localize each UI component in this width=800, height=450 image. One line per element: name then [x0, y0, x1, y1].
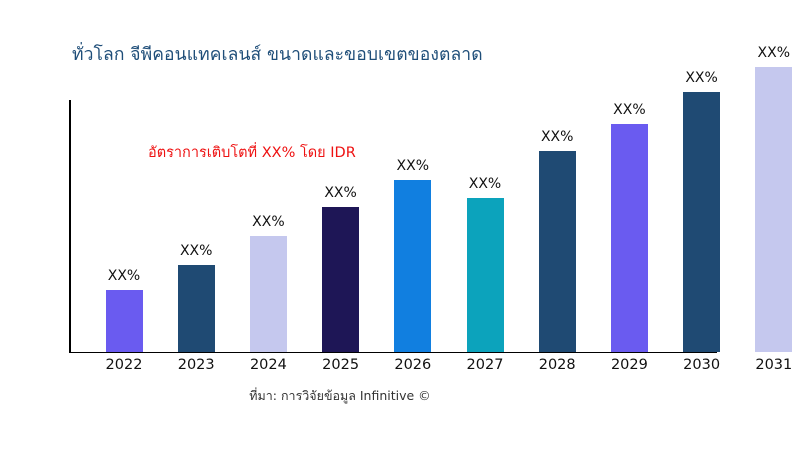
bar-2023[interactable] — [178, 265, 215, 352]
bar-value-label-2027: XX% — [455, 176, 515, 192]
x-axis-tick-label-2022: 2022 — [89, 357, 159, 373]
x-axis-tick-label-2025: 2025 — [306, 357, 376, 373]
bar-value-label-2025: XX% — [311, 185, 371, 201]
bar-2031[interactable] — [755, 67, 792, 352]
bar-value-label-2022: XX% — [94, 268, 154, 284]
x-axis-tick-label-2024: 2024 — [233, 357, 303, 373]
bar-2022[interactable] — [106, 290, 143, 352]
x-axis-tick-label-2031: 2031 — [739, 357, 800, 373]
bar-2028[interactable] — [539, 151, 576, 352]
x-axis-tick-label-2029: 2029 — [594, 357, 664, 373]
bar-value-label-2028: XX% — [527, 129, 587, 145]
bar-2025[interactable] — [322, 207, 359, 352]
bar-value-label-2026: XX% — [383, 158, 443, 174]
x-axis-tick-label-2028: 2028 — [522, 357, 592, 373]
x-axis-tick-label-2026: 2026 — [378, 357, 448, 373]
x-axis-tick-label-2030: 2030 — [667, 357, 737, 373]
bar-value-label-2023: XX% — [166, 243, 226, 259]
bar-2026[interactable] — [394, 180, 431, 352]
bar-2027[interactable] — [467, 198, 504, 352]
bar-value-label-2029: XX% — [599, 102, 659, 118]
plot-area: XX%2022XX%2023XX%2024XX%2025XX%2026XX%20… — [0, 0, 800, 450]
bar-2024[interactable] — [250, 236, 287, 352]
x-axis-tick-label-2027: 2027 — [450, 357, 520, 373]
x-axis-tick-label-2023: 2023 — [161, 357, 231, 373]
bar-2030[interactable] — [683, 92, 720, 352]
bar-value-label-2024: XX% — [238, 214, 298, 230]
source-note: ที่มา: การวิจัยข้อมูล Infinitive © — [0, 386, 680, 406]
bar-value-label-2030: XX% — [672, 70, 732, 86]
growth-rate-annotation: อัตราการเติบโตที่ XX% โดย IDR — [148, 141, 356, 164]
bar-value-label-2031: XX% — [744, 45, 800, 61]
bar-2029[interactable] — [611, 124, 648, 352]
bar-chart: ทั่วโลก จีพีคอนแทคเลนส์ ขนาดและขอบเขตของ… — [0, 0, 800, 450]
